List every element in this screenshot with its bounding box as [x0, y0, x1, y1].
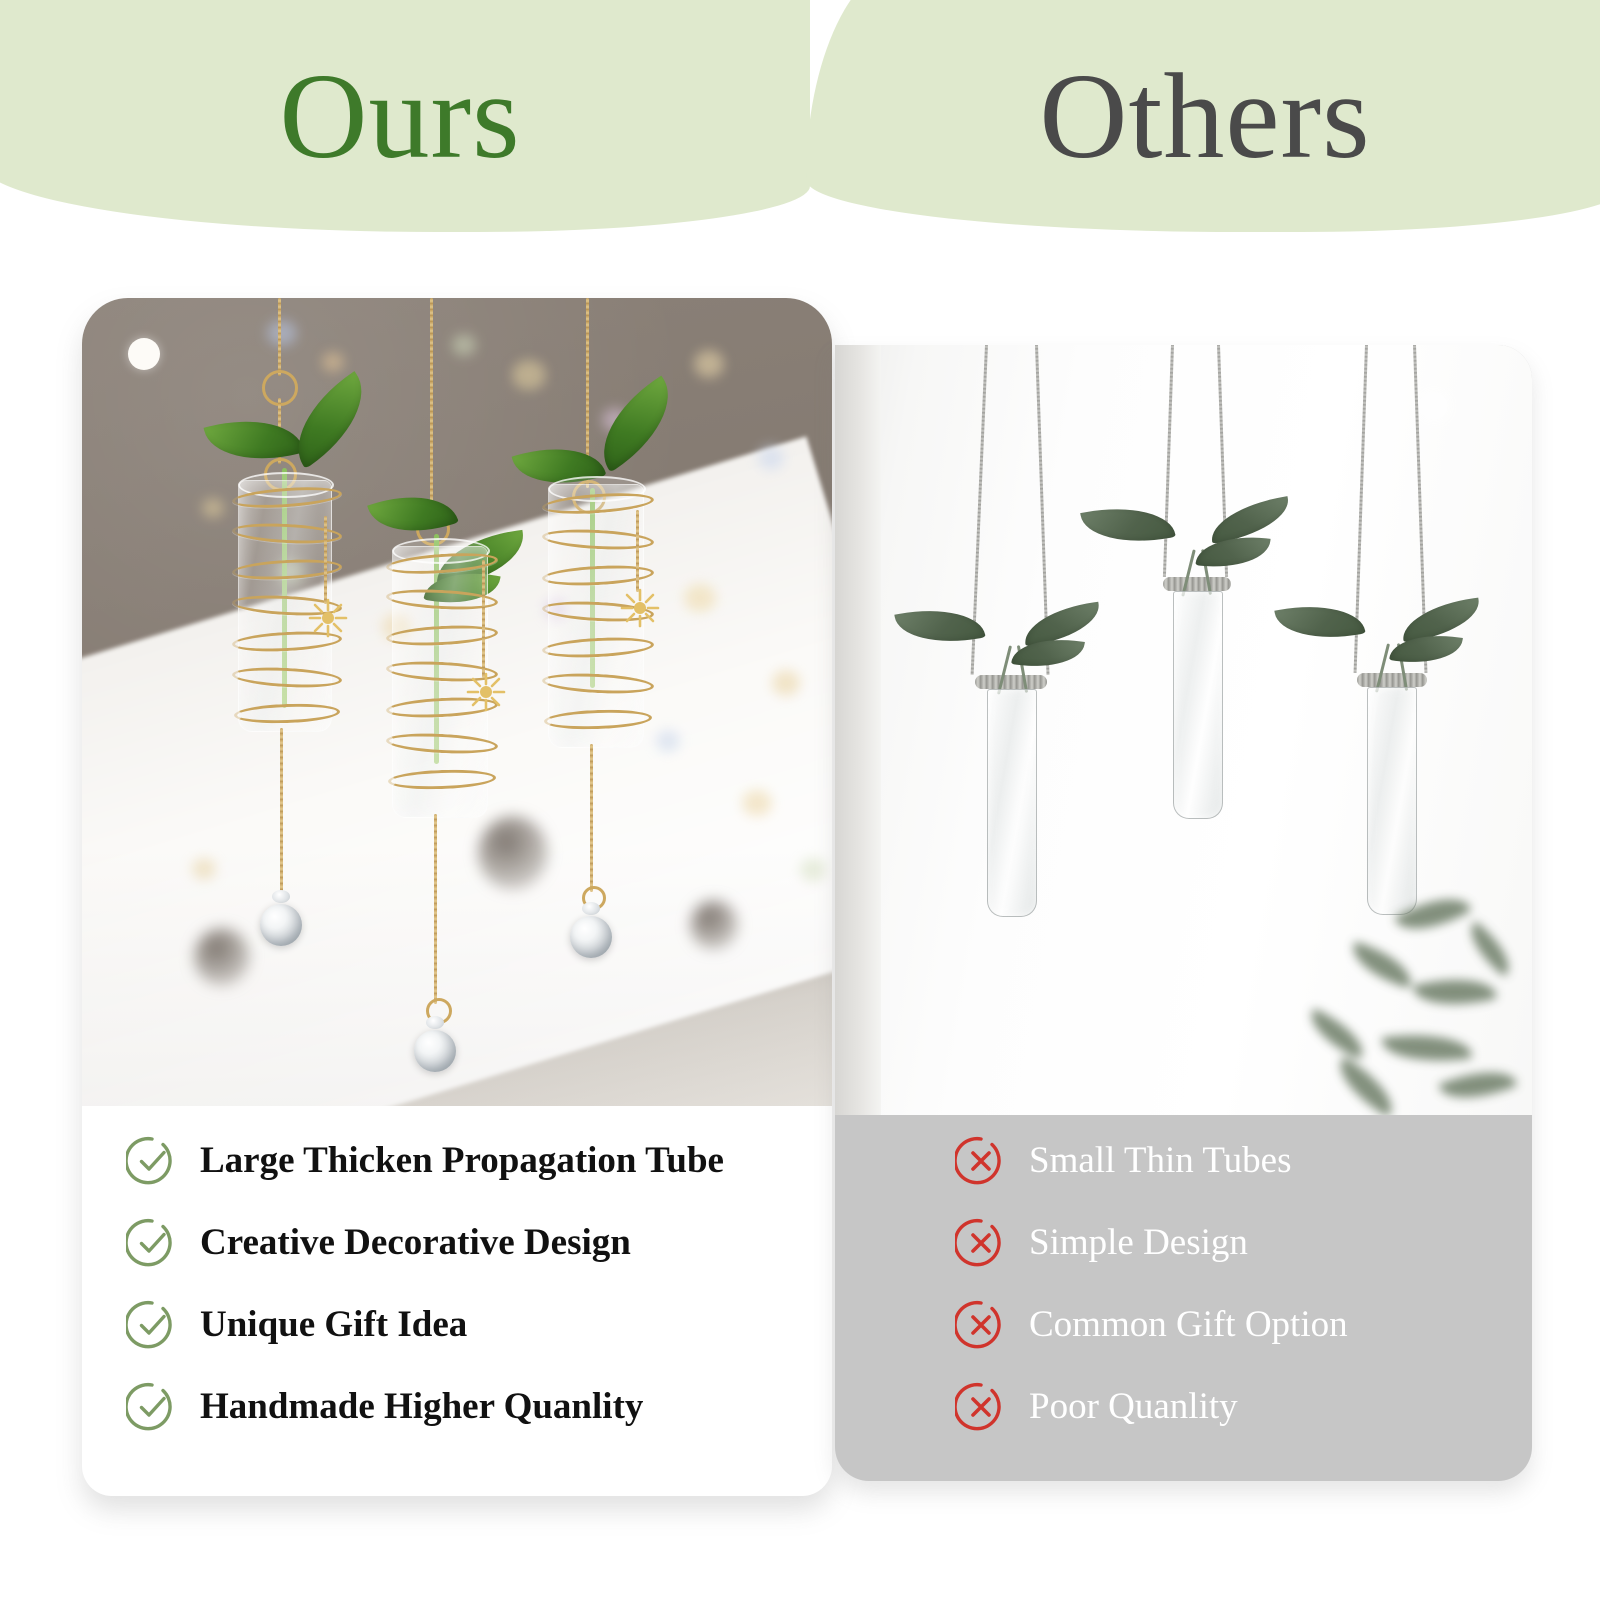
foliage-leaf [1329, 1057, 1403, 1115]
background-blob [690, 900, 738, 950]
check-circle-icon [126, 1381, 178, 1433]
feature-item[interactable]: Poor Quanlity [835, 1366, 1532, 1448]
feature-item[interactable]: Common Gift Option [835, 1284, 1532, 1366]
others-product-photo [835, 345, 1532, 1115]
foliage-leaf [1382, 1028, 1473, 1067]
crystal-bead [272, 890, 290, 903]
drop-chain [434, 814, 437, 1004]
foliage-leaf [1303, 1008, 1372, 1059]
wall-edge [835, 345, 881, 1115]
foliage-leaf [1346, 941, 1417, 988]
feature-label: Large Thicken Propagation Tube [200, 1141, 724, 1182]
crystal-ball [414, 1030, 456, 1072]
cross-circle-icon [955, 1135, 1007, 1187]
crystal-bead [582, 902, 600, 915]
foliage-leaf [1460, 921, 1520, 977]
cross-circle-icon [955, 1381, 1007, 1433]
ours-product-photo [82, 298, 832, 1106]
background-blob [194, 928, 250, 986]
comparison-infographic: Ours Others [0, 0, 1600, 1600]
crystal-ball [570, 916, 612, 958]
feature-label: Common Gift Option [1029, 1305, 1348, 1346]
charm-chain [482, 560, 485, 678]
cord-knot [1357, 673, 1427, 687]
header-banner-area: Ours Others [0, 0, 1600, 250]
bokeh-spot [742, 790, 772, 816]
background-foliage [1265, 881, 1532, 1115]
sun-charm-icon [466, 672, 500, 706]
feature-item[interactable]: Small Thin Tubes [835, 1120, 1532, 1202]
feature-label: Simple Design [1029, 1223, 1248, 1264]
others-title: Others [810, 0, 1600, 250]
plant-leaf [1274, 596, 1365, 648]
foliage-leaf [1438, 1059, 1517, 1111]
feature-label: Unique Gift Idea [200, 1305, 467, 1346]
feature-item[interactable]: Creative Decorative Design [82, 1202, 832, 1284]
foliage-leaf [1394, 884, 1472, 944]
sun-charm-icon [620, 588, 654, 622]
bokeh-spot [192, 858, 216, 880]
bokeh-spot [202, 498, 224, 518]
charm-chain [636, 510, 639, 592]
hanging-chain [430, 298, 433, 520]
sun-charm-icon [308, 598, 342, 632]
plant-leaf [1080, 497, 1176, 552]
charm-chain [324, 516, 327, 604]
crystal-bead [426, 1016, 444, 1029]
cross-circle-icon [955, 1299, 1007, 1351]
check-circle-icon [126, 1299, 178, 1351]
feature-item[interactable]: Simple Design [835, 1202, 1532, 1284]
feature-label: Creative Decorative Design [200, 1223, 631, 1264]
bokeh-spot [512, 360, 546, 390]
cord-knot [975, 675, 1047, 689]
cord-knot [1163, 577, 1231, 591]
bokeh-spot [772, 670, 800, 696]
bokeh-spot [684, 584, 716, 612]
drop-chain [280, 728, 283, 894]
drop-chain [590, 744, 593, 892]
bokeh-spot [656, 730, 680, 752]
cross-circle-icon [955, 1217, 1007, 1269]
bokeh-spot [800, 858, 826, 882]
bokeh-spot [267, 320, 297, 346]
bokeh-spot [322, 352, 344, 372]
feature-item[interactable]: Unique Gift Idea [82, 1284, 832, 1366]
background-blob [478, 816, 548, 890]
feature-label: Poor Quanlity [1029, 1387, 1238, 1428]
glass-test-tube [987, 689, 1037, 917]
ours-feature-list: Large Thicken Propagation Tube Creative … [82, 1120, 832, 1448]
bokeh-spot [758, 446, 784, 470]
check-circle-icon [126, 1135, 178, 1187]
feature-label: Small Thin Tubes [1029, 1141, 1292, 1182]
glass-test-tube [1173, 591, 1223, 819]
ours-title: Ours [0, 0, 800, 250]
feature-item[interactable]: Handmade Higher Quanlity [82, 1366, 832, 1448]
feature-item[interactable]: Large Thicken Propagation Tube [82, 1120, 832, 1202]
crystal-ball [260, 904, 302, 946]
photo-wall-shadow [82, 846, 832, 1106]
plant-leaf [582, 376, 691, 473]
hanging-cord [1163, 345, 1174, 577]
hanging-chain [278, 298, 281, 376]
others-feature-list: Small Thin Tubes Simple Design Common Gi… [835, 1120, 1532, 1448]
check-circle-icon [126, 1217, 178, 1269]
bokeh-spot [452, 334, 476, 356]
feature-label: Handmade Higher Quanlity [200, 1387, 643, 1428]
hanging-hole [128, 338, 160, 370]
hanging-hole [1421, 393, 1447, 419]
bokeh-spot [694, 350, 724, 378]
foliage-leaf [1413, 969, 1497, 1015]
